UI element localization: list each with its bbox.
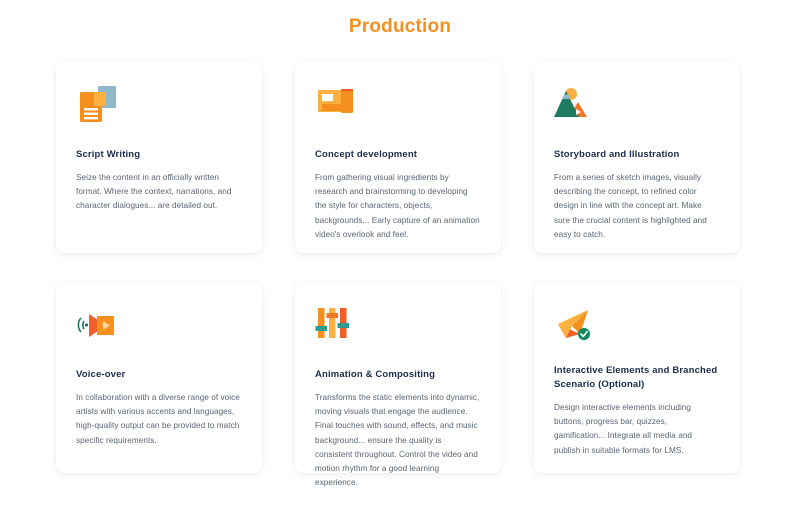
card-body: Seize the content in an officially writt… — [76, 171, 242, 214]
card-body: From a series of sketch images, visually… — [554, 171, 720, 242]
card-body: Transforms the static elements into dyna… — [315, 391, 481, 490]
production-stages-grid: Script Writing Seize the content in an o… — [56, 62, 740, 473]
card-storyboard-illustration[interactable]: Storyboard and Illustration From a serie… — [534, 62, 740, 253]
card-title: Script Writing — [76, 148, 242, 162]
card-concept-development[interactable]: Concept development From gathering visua… — [295, 62, 501, 253]
card-title: Voice-over — [76, 368, 242, 382]
card-interactive-elements[interactable]: Interactive Elements and Branched Scenar… — [534, 282, 740, 473]
card-title: Animation & Compositing — [315, 368, 481, 382]
card-title: Concept development — [315, 148, 481, 162]
mountain-landscape-icon — [554, 84, 602, 130]
paper-plane-check-icon — [554, 304, 602, 350]
card-voice-over[interactable]: Voice-over In collaboration with a diver… — [56, 282, 262, 473]
card-animation-compositing[interactable]: Animation & Compositing Transforms the s… — [295, 282, 501, 473]
script-document-icon — [76, 84, 124, 130]
megaphone-speaker-icon — [76, 304, 124, 350]
card-title: Interactive Elements and Branched Scenar… — [554, 364, 720, 392]
card-body: From gathering visual ingredients by res… — [315, 171, 481, 242]
card-script-writing[interactable]: Script Writing Seize the content in an o… — [56, 62, 262, 253]
concept-board-icon — [315, 84, 363, 130]
sliders-equalizer-icon — [315, 304, 363, 350]
card-body: Design interactive elements including bu… — [554, 401, 720, 458]
page-title: Production — [0, 0, 800, 39]
production-page: Production Script Writing Seize the cont… — [0, 0, 800, 506]
card-body: In collaboration with a diverse range of… — [76, 391, 242, 448]
card-title: Storyboard and Illustration — [554, 148, 720, 162]
